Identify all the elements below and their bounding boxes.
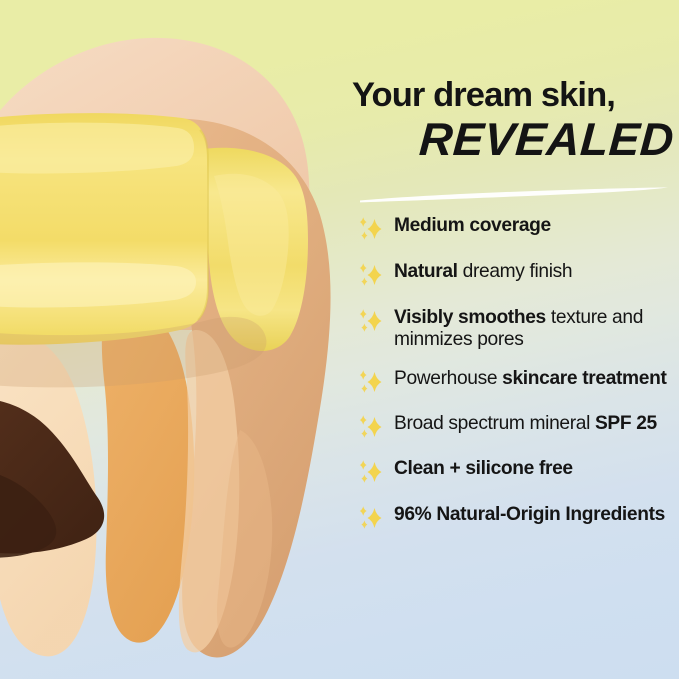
sparkle-icon [356, 412, 386, 442]
feature-list-item: Broad spectrum mineral SPF 25 [356, 411, 678, 442]
feature-list-item: 96% Natural-Origin Ingredients [356, 502, 678, 533]
feature-text: 96% Natural-Origin Ingredients [394, 502, 665, 526]
headline-block: Your dream skin, REVEALED [352, 78, 678, 162]
feature-list-item: Visibly smoothes texture and minmizes po… [356, 305, 678, 352]
product-advertisement: Your dream skin, REVEALED Medium coverag… [0, 0, 679, 679]
sparkle-icon [356, 306, 386, 336]
feature-text: Visibly smoothes texture and minmizes po… [394, 305, 678, 352]
sparkle-icon [356, 367, 386, 397]
feature-text: Powerhouse skincare treatment [394, 366, 667, 390]
feature-text: Clean + silicone free [394, 456, 573, 480]
feature-list-item: Clean + silicone free [356, 456, 678, 487]
feature-list-item: Powerhouse skincare treatment [356, 366, 678, 397]
sparkle-icon [356, 214, 386, 244]
headline-line-1: Your dream skin, [352, 78, 678, 113]
feature-text: Medium coverage [394, 213, 551, 237]
sparkle-icon [356, 260, 386, 290]
feature-list-item: Medium coverage [356, 213, 678, 244]
feature-list-item: Natural dreamy finish [356, 259, 678, 290]
text-panel: Your dream skin, REVEALED Medium coverag… [350, 0, 679, 679]
feature-text: Broad spectrum mineral SPF 25 [394, 411, 657, 435]
sparkle-icon [356, 503, 386, 533]
product-artwork [0, 0, 360, 679]
sparkle-icon [356, 457, 386, 487]
foundation-swatch-illustration [0, 0, 360, 679]
feature-text: Natural dreamy finish [394, 259, 572, 283]
yellow-tube-cap [0, 113, 208, 345]
feature-list: Medium coverageNatural dreamy finishVisi… [356, 213, 678, 548]
headline-line-2: REVEALED [350, 116, 679, 162]
brush-stroke-swoosh-icon [358, 186, 670, 204]
